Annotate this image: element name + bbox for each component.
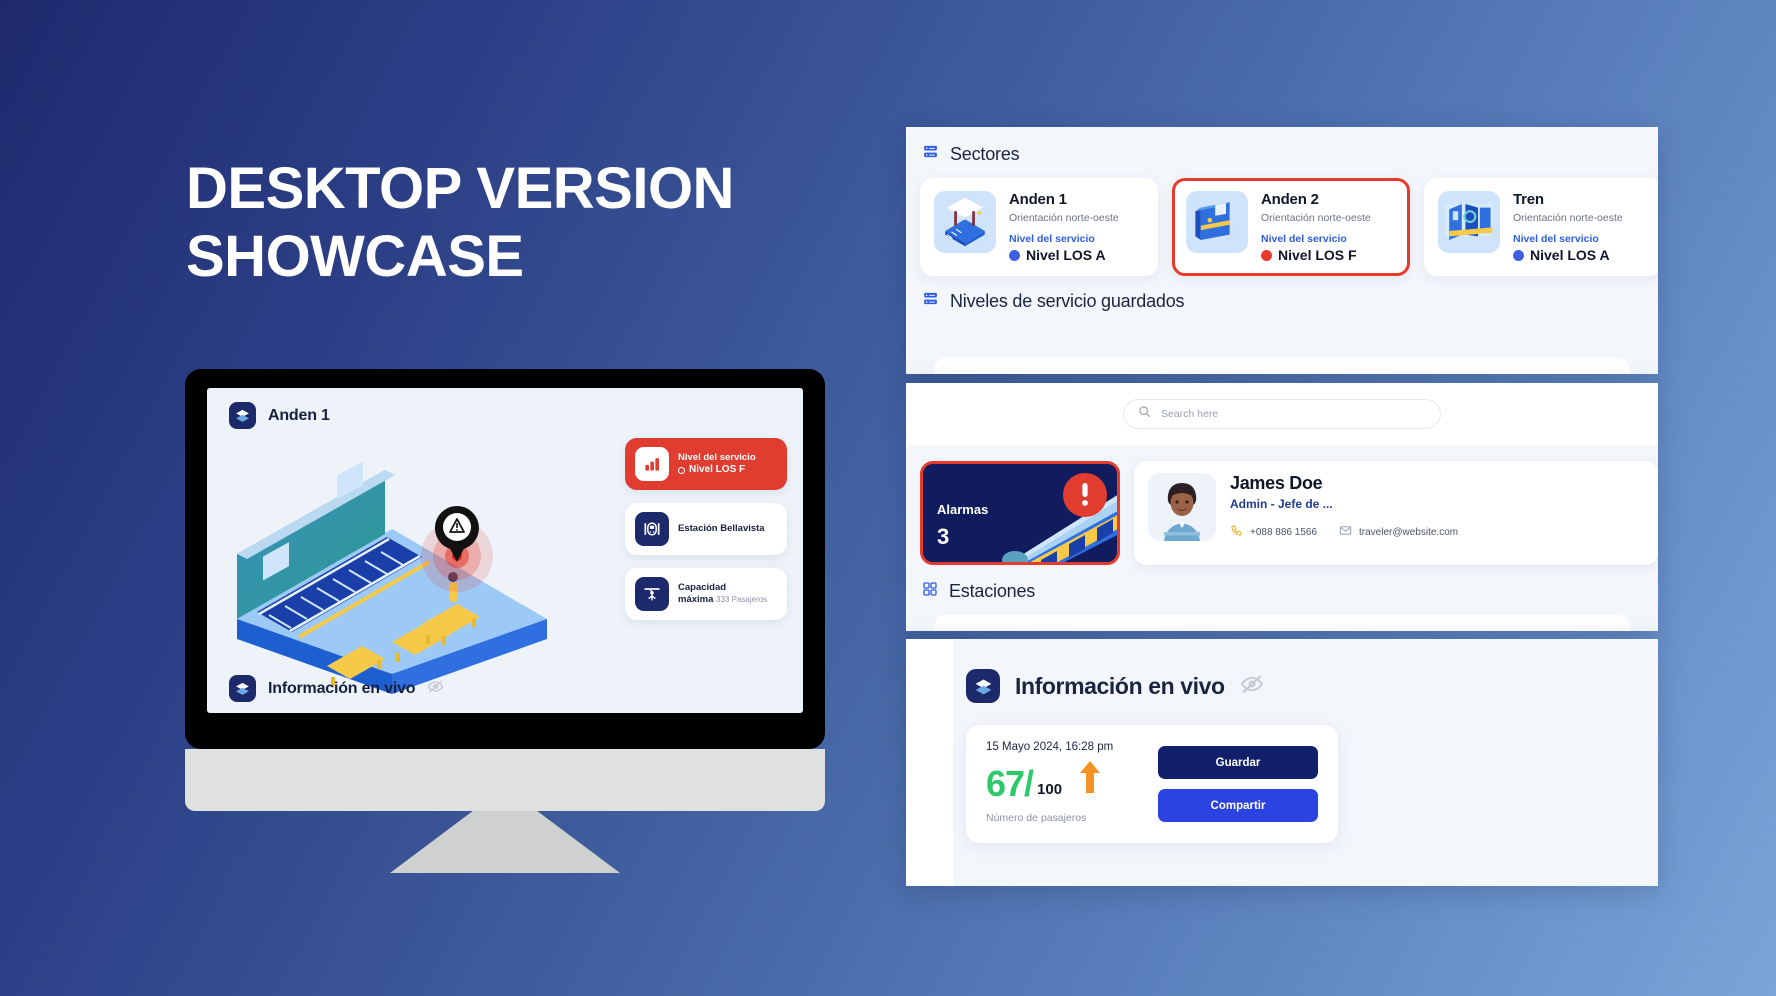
- screen-footer-title: Información en vivo: [268, 680, 415, 698]
- bar-chart-icon: [635, 447, 669, 481]
- person-email[interactable]: traveler@website.com: [1339, 524, 1458, 540]
- screen-card-capacity[interactable]: Capacidad máxima 333 Pasajeros: [625, 568, 787, 620]
- search-section: [906, 383, 1658, 445]
- mail-icon: [1339, 524, 1352, 540]
- monitor-screen: Anden 1: [207, 388, 803, 713]
- person-name: James Doe: [1230, 473, 1644, 494]
- vivo-heading-row: Información en vivo: [906, 639, 1658, 703]
- screen-header: Anden 1: [229, 402, 330, 429]
- app-badge-icon: [229, 402, 256, 429]
- estaciones-partial-card: [934, 615, 1630, 631]
- sector-card-anden-2[interactable]: Anden 2 Orientación norte-oeste Nivel de…: [1172, 178, 1410, 276]
- status-dot-icon: [1009, 250, 1020, 261]
- sector-level-value: Nivel LOS A: [1009, 247, 1119, 263]
- status-dot-icon: [1261, 250, 1272, 261]
- app-badge-icon: [229, 675, 256, 702]
- screen-footer: Información en vivo: [229, 675, 444, 702]
- monitor-stand: [185, 749, 825, 811]
- niveles-guardados-heading: Niveles de servicio guardados: [950, 291, 1184, 312]
- panel-sectores: Sectores: [906, 127, 1658, 374]
- screen-card-service-level[interactable]: Nivel del servicio Nivel LOS F: [625, 438, 787, 490]
- panel-alarmas: Alarmas 3: [906, 383, 1658, 631]
- phone-icon: [1230, 524, 1243, 540]
- vivo-denominator: 100: [1037, 781, 1062, 798]
- person-role: Admin - Jefe de ...: [1230, 497, 1644, 511]
- sector-level-value: Nivel LOS A: [1513, 247, 1623, 263]
- left-showcase-pane: DESKTOP VERSION SHOWCASE Anden 1: [0, 0, 900, 996]
- headline-line-1: DESKTOP VERSION: [186, 156, 734, 221]
- train-interior-icon: [1438, 191, 1500, 253]
- screen-card-capacity-title: Capacidad: [678, 582, 726, 593]
- panel-informacion-en-vivo: Información en vivo 15 Mayo 2024, 16:28 …: [906, 639, 1658, 886]
- sector-level-label: Nivel del servicio: [1261, 233, 1371, 245]
- search-bar[interactable]: [1123, 399, 1441, 429]
- platform-illustration: [217, 434, 577, 694]
- grid-icon: [922, 581, 938, 602]
- eye-off-icon[interactable]: [427, 678, 444, 700]
- screen-card-capacity-title2: máxima: [678, 594, 713, 605]
- sector-orientation: Orientación norte-oeste: [1513, 212, 1623, 224]
- sector-card-anden-1[interactable]: Anden 1 Orientación norte-oeste Nivel de…: [920, 178, 1158, 276]
- sector-card-row: Anden 1 Orientación norte-oeste Nivel de…: [906, 165, 1658, 276]
- share-button[interactable]: Compartir: [1158, 789, 1318, 822]
- status-dot-icon: [678, 467, 685, 474]
- sector-level-label: Nivel del servicio: [1009, 233, 1119, 245]
- person-card[interactable]: James Doe Admin - Jefe de ... +088 886 1…: [1134, 461, 1658, 565]
- search-input[interactable]: [1161, 408, 1426, 420]
- person-raise-icon: [635, 577, 669, 611]
- screen-card-service-level-value: Nivel LOS F: [678, 464, 756, 477]
- screen-card-capacity-sub: 333 Pasajeros: [716, 595, 767, 604]
- screen-card-station-title: Estación Bellavista: [678, 523, 765, 534]
- sectores-heading-row: Sectores: [906, 127, 1658, 165]
- vivo-value: 67/: [986, 766, 1033, 802]
- sector-name: Anden 2: [1261, 191, 1319, 208]
- alarm-and-person-row: Alarmas 3: [906, 445, 1658, 565]
- sector-orientation: Orientación norte-oeste: [1261, 212, 1371, 224]
- station-icon: [635, 512, 669, 546]
- vivo-stat-card: 15 Mayo 2024, 16:28 pm 67/ 100 Número de…: [966, 725, 1338, 843]
- vivo-caption: Número de pasajeros: [986, 812, 1138, 824]
- niveles-guardados-heading-row: Niveles de servicio guardados: [906, 276, 1658, 312]
- headline-line-2: SHOWCASE: [186, 223, 846, 291]
- status-dot-icon: [1513, 250, 1524, 261]
- search-icon: [1138, 405, 1151, 423]
- arrow-up-icon: [1078, 759, 1102, 800]
- sector-name: Anden 1: [1009, 191, 1067, 208]
- screen-info-cards: Nivel del servicio Nivel LOS F: [625, 438, 787, 633]
- avatar: [1148, 473, 1216, 541]
- monitor-bezel: Anden 1: [185, 369, 825, 749]
- vivo-passenger-count: 67/ 100: [986, 759, 1138, 802]
- sector-name: Tren: [1513, 191, 1544, 208]
- sector-level-label: Nivel del servicio: [1513, 233, 1623, 245]
- screen-card-station[interactable]: Estación Bellavista: [625, 503, 787, 555]
- app-badge-icon: [966, 669, 1000, 703]
- alarm-card[interactable]: Alarmas 3: [920, 461, 1120, 565]
- server-icon: [922, 143, 939, 165]
- person-phone[interactable]: +088 886 1566: [1230, 524, 1317, 540]
- vivo-title: Información en vivo: [1015, 673, 1225, 700]
- sector-level-value: Nivel LOS F: [1261, 247, 1371, 263]
- sector-orientation: Orientación norte-oeste: [1009, 212, 1119, 224]
- monitor-foot: [185, 811, 825, 873]
- alarm-count: 3: [937, 524, 949, 550]
- alarm-label: Alarmas: [937, 502, 988, 517]
- platform-canopy-icon: [934, 191, 996, 253]
- eye-off-icon[interactable]: [1240, 672, 1264, 701]
- sectores-heading: Sectores: [950, 144, 1019, 165]
- vivo-timestamp: 15 Mayo 2024, 16:28 pm: [986, 741, 1138, 753]
- monitor-mockup: Anden 1: [185, 369, 825, 873]
- page-title: DESKTOP VERSION SHOWCASE: [186, 155, 846, 291]
- sector-card-tren[interactable]: Tren Orientación norte-oeste Nivel del s…: [1424, 178, 1658, 276]
- screen-card-service-level-title: Nivel del servicio: [678, 452, 756, 463]
- estaciones-heading: Estaciones: [949, 581, 1035, 602]
- estaciones-heading-row: Estaciones: [906, 565, 1658, 602]
- save-button[interactable]: Guardar: [1158, 746, 1318, 779]
- screen-title: Anden 1: [268, 407, 330, 425]
- server-icon: [922, 290, 939, 312]
- saved-levels-partial-card: [934, 358, 1630, 374]
- platform-wall-icon: [1186, 191, 1248, 253]
